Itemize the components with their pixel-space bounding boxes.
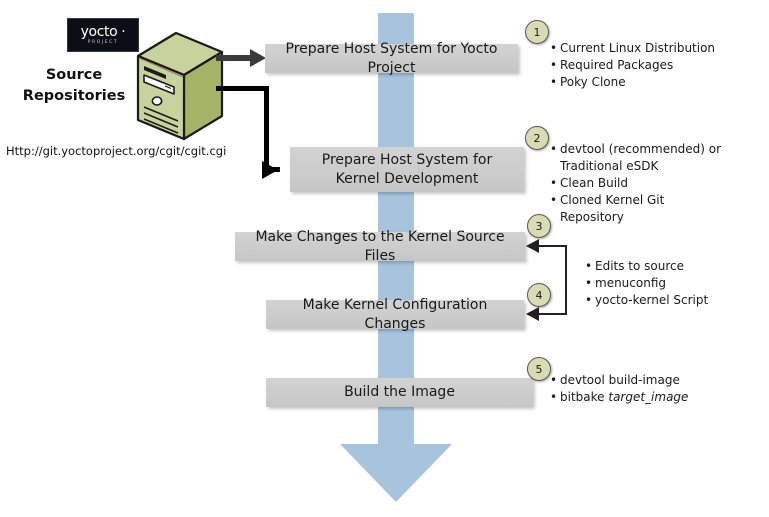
- bullet-item: • Cloned Kernel Git Repository: [550, 192, 730, 226]
- logo-wordmark: yocto ·: [81, 25, 126, 39]
- bullet-text: Poky Clone: [560, 74, 755, 91]
- bracket-vertical: [565, 245, 567, 315]
- step-box-1-label: Prepare Host System for Yocto Project: [273, 40, 510, 78]
- bullet-item: • devtool build-image: [550, 372, 740, 389]
- bullet-text: menuconfig: [595, 275, 760, 292]
- step-box-1[interactable]: Prepare Host System for Yocto Project: [265, 44, 518, 73]
- step-number-5: 5: [527, 357, 551, 381]
- connector-step2-arrowhead: [262, 161, 278, 179]
- step-1-bullets: • Current Linux Distribution • Required …: [550, 40, 755, 91]
- bullet-item: • Poky Clone: [550, 74, 755, 91]
- source-label-line1: Source: [10, 65, 138, 86]
- source-label-line2: Repositories: [10, 86, 138, 107]
- diagram-canvas: yocto · PROJECT Source Repositories Http…: [0, 0, 769, 517]
- step-box-5[interactable]: Build the Image: [266, 378, 533, 407]
- step-box-4[interactable]: Make Kernel Configuration Changes: [266, 300, 524, 329]
- step-number-5-value: 5: [536, 363, 543, 376]
- bullet-glyph: •: [550, 74, 560, 91]
- bracket-arrowhead-step3: [526, 239, 539, 253]
- step-box-5-label: Build the Image: [344, 383, 455, 402]
- bullet-text: devtool build-image: [560, 372, 740, 389]
- step-5-bullets: • devtool build-image • bitbake target_i…: [550, 372, 740, 406]
- bullet-glyph: •: [585, 258, 595, 275]
- step-number-3: 3: [527, 214, 551, 238]
- step-box-3[interactable]: Make Changes to the Kernel Source Files: [235, 232, 525, 261]
- bullet-text: bitbake target_image: [560, 389, 740, 406]
- step-box-4-label: Make Kernel Configuration Changes: [274, 296, 516, 334]
- bracket-arrowhead-step4: [526, 307, 539, 321]
- source-repositories-label: Source Repositories: [10, 65, 138, 107]
- step-box-3-label: Make Changes to the Kernel Source Files: [243, 228, 517, 266]
- bullet-glyph: •: [550, 372, 560, 389]
- step-number-3-value: 3: [536, 220, 543, 233]
- server-icon: [134, 30, 226, 146]
- bullet-item: • Current Linux Distribution: [550, 40, 755, 57]
- bullet-item: • menuconfig: [585, 275, 760, 292]
- bullet-text: Current Linux Distribution: [560, 40, 755, 57]
- step-number-1-value: 1: [534, 26, 541, 39]
- step-box-2-label: Prepare Host System for Kernel Developme…: [298, 151, 516, 189]
- bullet-item: • Required Packages: [550, 57, 755, 74]
- bullet-item: • Edits to source: [585, 258, 760, 275]
- steps-3-4-shared-bullets: • Edits to source • menuconfig • yocto-k…: [585, 258, 760, 309]
- step-number-2: 2: [525, 126, 549, 150]
- flow-arrow-head: [340, 444, 452, 502]
- bullet-text: Clean Build: [560, 175, 730, 192]
- bullet-item: • Clean Build: [550, 175, 730, 192]
- bracket-top-horizontal: [538, 245, 567, 247]
- logo-subtext: PROJECT: [88, 41, 119, 46]
- connector-server-to-step2-horizontal-top: [216, 86, 269, 91]
- bullet-text: Edits to source: [595, 258, 760, 275]
- connector-server-to-step2-vertical: [264, 86, 269, 172]
- source-repository-url: Http://git.yoctoproject.org/cgit/cgit.cg…: [6, 144, 226, 158]
- bullet-text: yocto-kernel Script: [595, 292, 760, 309]
- step-number-4: 4: [527, 283, 551, 307]
- bullet-item: • devtool (recommended) or Traditional e…: [550, 141, 730, 175]
- bullet-glyph: •: [585, 292, 595, 309]
- step-number-1: 1: [525, 20, 549, 44]
- bullet-glyph: •: [550, 57, 560, 74]
- connector-server-to-step1: [216, 55, 252, 61]
- bullet-item: • bitbake target_image: [550, 389, 740, 406]
- bullet-text: Required Packages: [560, 57, 755, 74]
- step-number-2-value: 2: [534, 132, 541, 145]
- step-2-bullets: • devtool (recommended) or Traditional e…: [550, 141, 730, 226]
- step-box-2[interactable]: Prepare Host System for Kernel Developme…: [290, 147, 524, 192]
- bullet-text: Cloned Kernel Git Repository: [560, 192, 730, 226]
- yocto-project-logo: yocto · PROJECT: [67, 18, 139, 52]
- bitbake-command-prefix: bitbake: [560, 390, 608, 404]
- bullet-glyph: •: [585, 275, 595, 292]
- bullet-item: • yocto-kernel Script: [585, 292, 760, 309]
- bitbake-target-variable: target_image: [608, 390, 688, 404]
- bullet-glyph: •: [550, 40, 560, 57]
- bullet-glyph: •: [550, 141, 560, 158]
- bullet-glyph: •: [550, 175, 560, 192]
- bullet-glyph: •: [550, 389, 560, 406]
- bullet-text: devtool (recommended) or Traditional eSD…: [560, 141, 730, 175]
- connector-step1-arrowhead: [250, 49, 266, 67]
- bracket-bottom-horizontal: [538, 313, 567, 315]
- step-number-4-value: 4: [536, 289, 543, 302]
- bullet-glyph: •: [550, 192, 560, 209]
